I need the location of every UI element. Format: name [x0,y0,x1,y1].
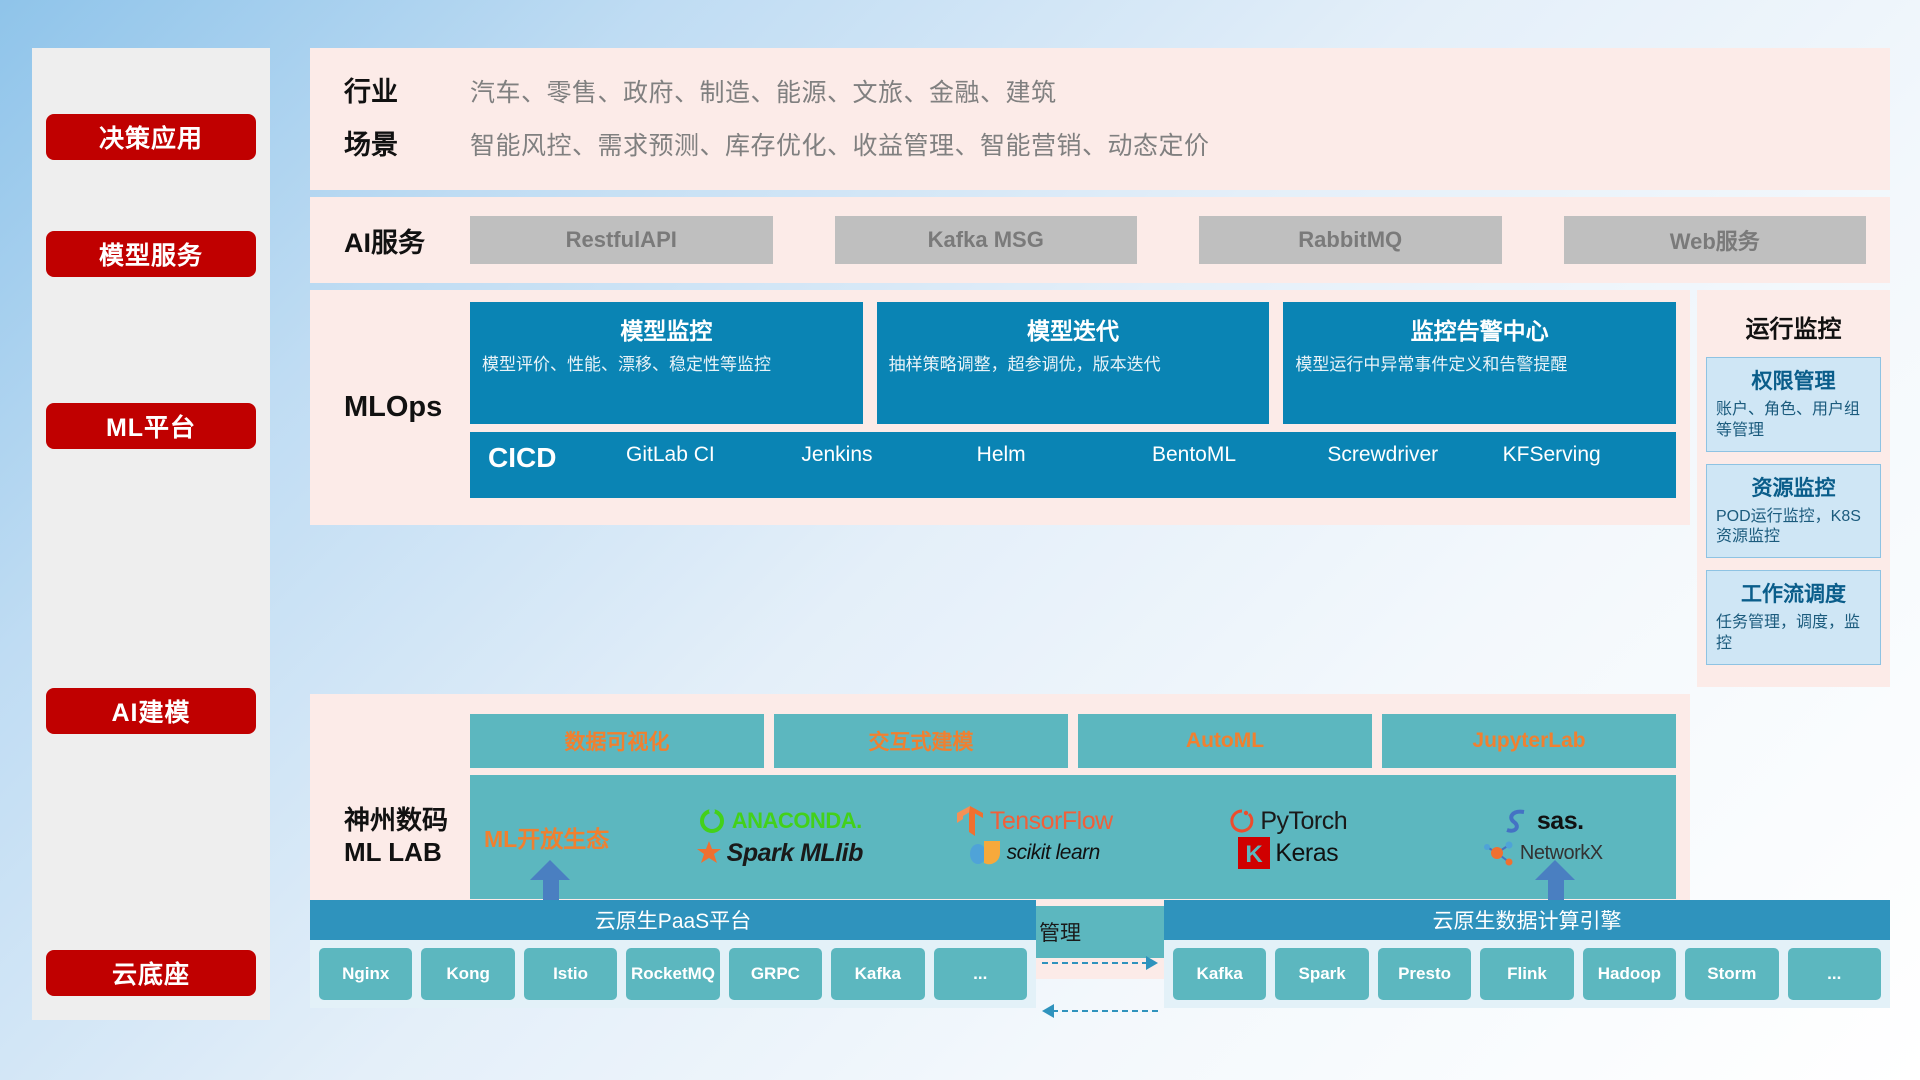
keras-icon: K [1238,837,1270,869]
compute-chip-kafka[interactable]: Kafka [1173,948,1266,1000]
dashed-line [1042,962,1148,964]
compute-panel: 云原生数据计算引擎 Kafka Spark Presto Flink Hadoo… [1164,900,1890,1008]
mlops-card-title: 模型迭代 [889,312,1258,346]
paas-title: 云原生PaaS平台 [310,900,1036,940]
mlops-card-desc: 抽样策略调整，超参调优，版本迭代 [889,354,1258,377]
ai-service-chip-list: RestfulAPI Kafka MSG RabbitMQ Web服务 [470,216,1890,264]
spark-mllib-label: Spark MLlib [727,839,863,868]
mlops-card-title: 监控告警中心 [1295,312,1664,346]
cicd-item-gitlab[interactable]: GitLab CI [620,442,795,468]
mlops-card-desc: 模型评价、性能、漂移、稳定性等监控 [482,354,851,377]
layer-chip-ml-platform[interactable]: ML平台 [46,403,256,449]
spark-mllib-logo: Spark MLlib [696,839,863,868]
industry-value: 汽车、零售、政府、制造、能源、文旅、金融、建筑 [470,73,1057,109]
arrow-head [1146,956,1158,970]
ai-service-band: AI服务 RestfulAPI Kafka MSG RabbitMQ Web服务 [310,197,1890,283]
mlops-label: MLOps [344,302,470,513]
ml-ecosystem-logo-grid: ANACONDA. TensorFlow [652,805,1670,869]
runtime-monitoring-sidebar: 运行监控 权限管理 账户、角色、用户组等管理 资源监控 POD运行监控，K8S资… [1697,290,1890,687]
mlops-card-alert-center[interactable]: 监控告警中心 模型运行中异常事件定义和告警提醒 [1283,302,1676,424]
tensorflow-icon [955,805,985,837]
layer-rail: 决策应用 模型服务 ML平台 AI建模 云底座 [32,48,270,1020]
cicd-item-bentoml[interactable]: BentoML [1146,442,1321,468]
arrow-compute-to-paas-icon [1042,1010,1158,1012]
layer-chip-model-service[interactable]: 模型服务 [46,231,256,277]
cicd-title: CICD [488,442,620,474]
modeling-tool-chip-list: 数据可视化 交互式建模 AutoML JupyterLab [470,714,1676,768]
mlops-band: MLOps 模型监控 模型评价、性能、漂移、稳定性等监控 模型迭代 抽样策略调整… [310,290,1690,525]
sas-logo: sas. [1502,806,1584,836]
mlops-card-model-iteration[interactable]: 模型迭代 抽样策略调整，超参调优，版本迭代 [877,302,1270,424]
mlops-card-model-monitoring[interactable]: 模型监控 模型评价、性能、漂移、稳定性等监控 [470,302,863,424]
keras-label: Keras [1275,839,1338,868]
paas-panel: 云原生PaaS平台 Nginx Kong Istio RocketMQ GRPC… [310,900,1036,1008]
paas-chip-rocketmq[interactable]: RocketMQ [626,948,719,1000]
arrow-head [1042,1004,1054,1018]
pytorch-icon [1229,806,1255,836]
paas-chip-kafka[interactable]: Kafka [831,948,924,1000]
ai-service-chip-kafka[interactable]: Kafka MSG [835,216,1138,264]
mlops-body: 模型监控 模型评价、性能、漂移、稳定性等监控 模型迭代 抽样策略调整，超参调优，… [470,302,1676,513]
anaconda-logo: ANACONDA. [697,806,862,836]
compute-chip-presto[interactable]: Presto [1378,948,1471,1000]
tensorflow-logo: TensorFlow [955,805,1113,837]
monitor-card-desc: POD运行监控，K8S资源监控 [1716,507,1871,549]
anaconda-icon [697,806,727,836]
layer-chip-label: 云底座 [112,955,190,991]
pytorch-label: PyTorch [1260,807,1347,836]
scikit-learn-icon [968,838,1002,868]
industry-label: 行业 [344,70,470,109]
layer-chip-label: AI建模 [111,693,190,729]
monitor-card-permissions[interactable]: 权限管理 账户、角色、用户组等管理 [1706,357,1881,452]
ml-lab-label: 神州数码 ML LAB [344,804,470,869]
monitor-card-title: 权限管理 [1716,365,1871,395]
paas-chip-kong[interactable]: Kong [421,948,514,1000]
cicd-strip: CICD GitLab CI Jenkins Helm BentoML Scre… [470,432,1676,498]
monitor-card-desc: 任务管理，调度，监控 [1716,613,1871,655]
monitor-card-title: 工作流调度 [1716,578,1871,608]
scenario-label: 场景 [344,123,470,162]
cicd-item-kfserving[interactable]: KFServing [1497,442,1672,468]
paas-chip-grpc[interactable]: GRPC [729,948,822,1000]
monitor-card-workflow[interactable]: 工作流调度 任务管理，调度，监控 [1706,570,1881,665]
compute-chip-spark[interactable]: Spark [1275,948,1368,1000]
compute-chip-flink[interactable]: Flink [1480,948,1573,1000]
ai-service-chip-restful[interactable]: RestfulAPI [470,216,773,264]
scikit-learn-label: scikit learn [1007,841,1100,865]
ml-ecosystem-box: ML开放生态 ANACONDA. [470,775,1676,899]
mlops-card-list: 模型监控 模型评价、性能、漂移、稳定性等监控 模型迭代 抽样策略调整，超参调优，… [470,302,1676,424]
layer-chip-decision-apps[interactable]: 决策应用 [46,114,256,160]
compute-chip-list: Kafka Spark Presto Flink Hadoop Storm ..… [1164,940,1890,1008]
ai-service-label: AI服务 [344,221,470,260]
monitor-card-resources[interactable]: 资源监控 POD运行监控，K8S资源监控 [1706,464,1881,559]
layer-chip-label: 模型服务 [99,236,203,272]
arrow-stem [543,876,559,900]
cloud-base-row: 云原生PaaS平台 Nginx Kong Istio RocketMQ GRPC… [310,900,1890,1046]
ml-lab-label-line1: 神州数码 [344,804,470,837]
architecture-main: 行业 汽车、零售、政府、制造、能源、文旅、金融、建筑 场景 智能风控、需求预测、… [310,48,1890,979]
paas-chip-more[interactable]: ... [934,948,1027,1000]
layer-chip-ai-modeling[interactable]: AI建模 [46,688,256,734]
paas-chip-istio[interactable]: Istio [524,948,617,1000]
ai-service-chip-rabbitmq[interactable]: RabbitMQ [1199,216,1502,264]
industry-row: 行业 汽车、零售、政府、制造、能源、文旅、金融、建筑 [344,70,1890,109]
mlops-card-title: 模型监控 [482,312,851,346]
layer-chip-cloud-base[interactable]: 云底座 [46,950,256,996]
paas-chip-list: Nginx Kong Istio RocketMQ GRPC Kafka ... [310,940,1036,1008]
cicd-item-screwdriver[interactable]: Screwdriver [1321,442,1496,468]
tensorflow-label: TensorFlow [990,807,1113,836]
layer-chip-label: 决策应用 [99,119,203,155]
layer-chip-label: ML平台 [106,408,196,444]
tool-chip-data-visualization[interactable]: 数据可视化 [470,714,764,768]
pytorch-logo: PyTorch [1229,806,1347,836]
compute-chip-storm[interactable]: Storm [1685,948,1778,1000]
keras-logo: K Keras [1238,837,1338,869]
networkx-icon [1483,838,1515,868]
scikit-learn-logo: scikit learn [968,838,1100,868]
scenario-row: 场景 智能风控、需求预测、库存优化、收益管理、智能营销、动态定价 [344,123,1890,162]
runtime-monitoring-title: 运行监控 [1746,309,1842,344]
monitor-card-title: 资源监控 [1716,472,1871,502]
ml-platform-row: MLOps 模型监控 模型评价、性能、漂移、稳定性等监控 模型迭代 抽样策略调整… [310,290,1890,687]
decision-apps-band: 行业 汽车、零售、政府、制造、能源、文旅、金融、建筑 场景 智能风控、需求预测、… [310,48,1890,190]
arrow-stem [1548,876,1564,900]
up-arrow-compute-icon [1535,860,1575,900]
sas-icon [1502,806,1532,836]
tool-chip-jupyterlab[interactable]: JupyterLab [1382,714,1676,768]
anaconda-label: ANACONDA. [732,808,862,834]
cicd-item-jenkins[interactable]: Jenkins [795,442,970,468]
scenario-value: 智能风控、需求预测、库存优化、收益管理、智能营销、动态定价 [470,126,1210,162]
sas-label: sas. [1537,807,1584,836]
svg-text:K: K [1246,841,1264,868]
spark-star-icon [696,840,722,866]
compute-chip-more[interactable]: ... [1788,948,1881,1000]
ml-ecosystem-label: ML开放生态 [484,820,652,854]
tool-chip-automl[interactable]: AutoML [1078,714,1372,768]
tool-chip-interactive-modeling[interactable]: 交互式建模 [774,714,1068,768]
arrow-paas-to-compute-icon [1042,962,1158,964]
cicd-item-helm[interactable]: Helm [971,442,1146,468]
paas-chip-nginx[interactable]: Nginx [319,948,412,1000]
dashed-line [1052,1010,1158,1012]
monitor-card-desc: 账户、角色、用户组等管理 [1716,400,1871,442]
ml-lab-label-line2: ML LAB [344,836,470,869]
ai-service-chip-web[interactable]: Web服务 [1564,216,1867,264]
compute-title: 云原生数据计算引擎 [1164,900,1890,940]
up-arrow-paas-icon [530,860,570,900]
compute-chip-hadoop[interactable]: Hadoop [1583,948,1676,1000]
mlops-card-desc: 模型运行中异常事件定义和告警提醒 [1295,354,1664,377]
